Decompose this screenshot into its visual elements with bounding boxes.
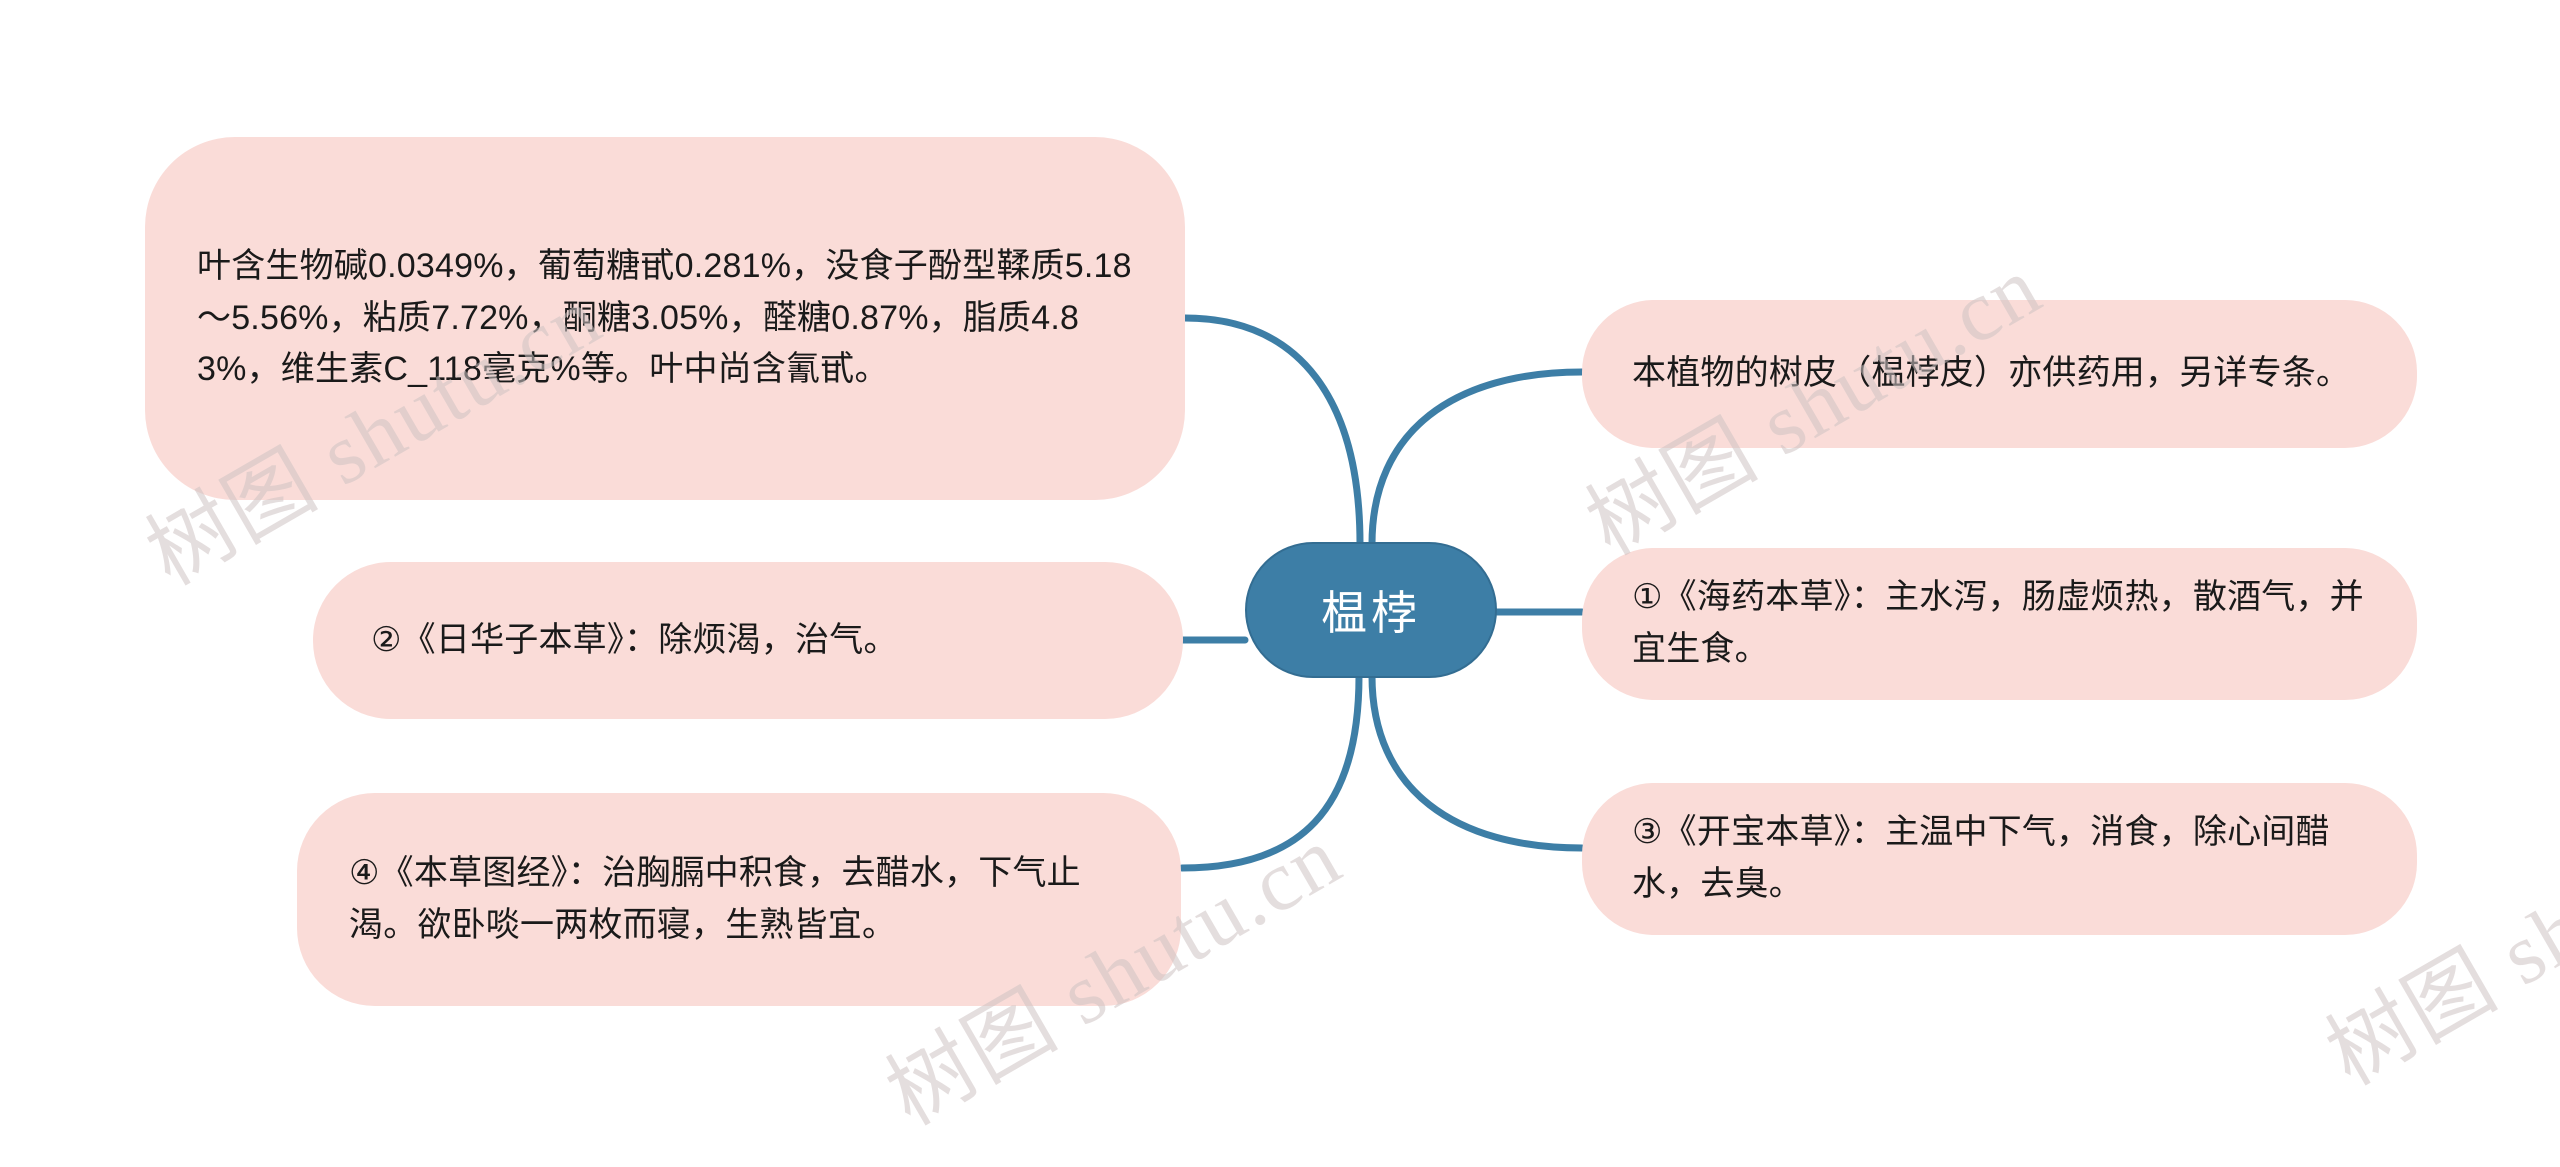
node-haiyao-bencao[interactable]: ①《海药本草》：主水泻，肠虚烦热，散酒气，并宜生食。 <box>1582 548 2417 700</box>
connector-center-to-topright <box>1372 372 1582 544</box>
node-center-root-text: 榅桲 <box>1321 577 1421 643</box>
node-bark-note-text: 本植物的树皮（榅桲皮）亦供药用，另详专条。 <box>1632 348 2377 400</box>
node-bencao-tujing-text: ④《本草图经》：治胸膈中积食，去醋水，下气止渴。欲卧啖一两枚而寝，生熟皆宜。 <box>349 848 1141 951</box>
node-rihuazi-bencao[interactable]: ②《日华子本草》：除烦渴，治气。 <box>313 562 1183 719</box>
node-kaibao-bencao-text: ③《开宝本草》：主温中下气，消食，除心间醋水，去臭。 <box>1632 807 2377 910</box>
connector-center-to-bottomleft <box>1182 676 1359 868</box>
node-bark-note[interactable]: 本植物的树皮（榅桲皮）亦供药用，另详专条。 <box>1582 300 2417 448</box>
connector-center-to-topleft <box>1185 318 1360 544</box>
node-leaf-composition-text: 叶含生物碱0.0349%，葡萄糖甙0.281%，没食子酚型鞣质5.18～5.56… <box>197 241 1137 396</box>
node-haiyao-bencao-text: ①《海药本草》：主水泻，肠虚烦热，散酒气，并宜生食。 <box>1632 572 2377 675</box>
node-center-root[interactable]: 榅桲 <box>1245 542 1497 678</box>
node-rihuazi-bencao-text: ②《日华子本草》：除烦渴，治气。 <box>371 615 1135 667</box>
mindmap-canvas: 叶含生物碱0.0349%，葡萄糖甙0.281%，没食子酚型鞣质5.18～5.56… <box>0 0 2560 1167</box>
connector-center-to-bottomright <box>1372 676 1582 848</box>
node-leaf-composition[interactable]: 叶含生物碱0.0349%，葡萄糖甙0.281%，没食子酚型鞣质5.18～5.56… <box>145 137 1185 500</box>
node-kaibao-bencao[interactable]: ③《开宝本草》：主温中下气，消食，除心间醋水，去臭。 <box>1582 783 2417 935</box>
node-bencao-tujing[interactable]: ④《本草图经》：治胸膈中积食，去醋水，下气止渴。欲卧啖一两枚而寝，生熟皆宜。 <box>297 793 1181 1006</box>
